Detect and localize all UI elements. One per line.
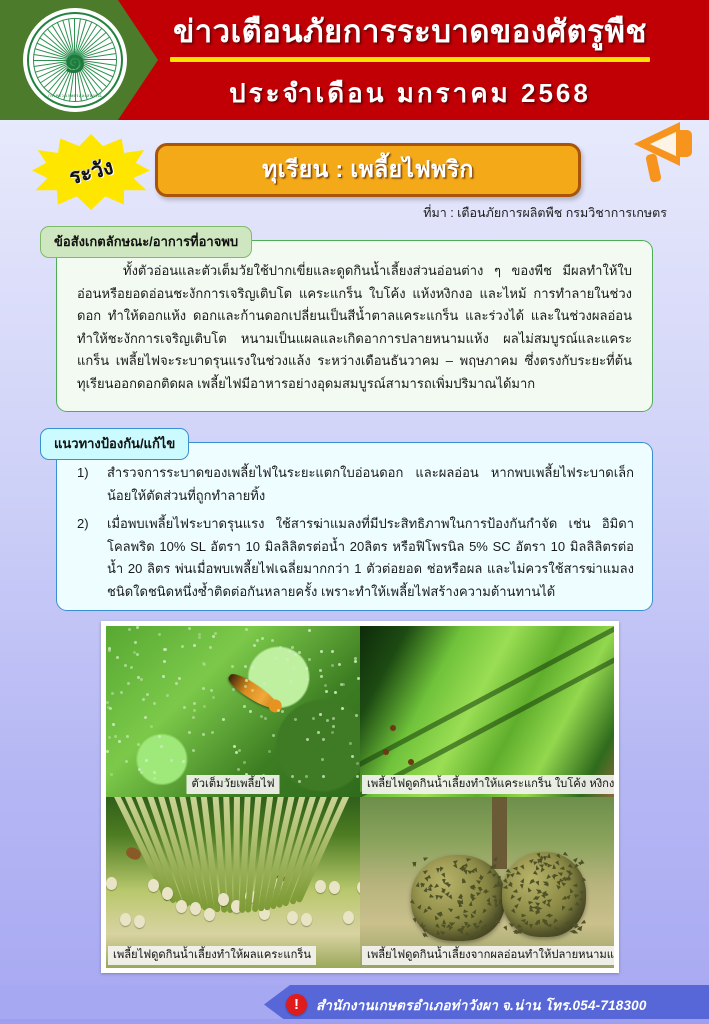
flower-bud (148, 879, 159, 892)
flower-bud (162, 887, 173, 900)
photo-caption: เพลี้ยไฟดูดกินน้ำเลี้ยงทำให้ผลแคระแกร็น (108, 946, 316, 965)
durian-fruit (502, 852, 586, 938)
leaf-damage-spot (383, 749, 389, 755)
leaf-damage-spot (390, 725, 396, 731)
flower-bud (315, 880, 326, 893)
photo-caption: ตัวเต็มวัยเพลี้ยไฟ (186, 775, 279, 794)
megaphone-icon (604, 98, 704, 198)
tree-trunk (492, 797, 507, 869)
list-item: 1) สำรวจการระบาดของเพลี้ยไฟในระยะแตกใบอ่… (71, 462, 634, 507)
ministry-seal-logo: ๑ กระทรวงเกษตรและสหกรณ์ (23, 8, 127, 112)
poster-main-title: ข่าวเตือนภัยการระบาดของศัตรูพืช (150, 6, 670, 56)
flower-bud (176, 900, 187, 913)
photo-grid-frame: ตัวเต็มวัยเพลี้ยไฟ เพลี้ยไฟดูดกินน้ำเลี้… (101, 621, 619, 973)
stunted-fruitlet-photo: เพลี้ยไฟดูดกินน้ำเลี้ยงทำให้ผลแคระแกร็น (106, 797, 360, 968)
thrips-insect-shape (226, 670, 281, 713)
logo-hexagon: ๑ กระทรวงเกษตรและสหกรณ์ (0, 0, 158, 120)
flower-bud (134, 915, 145, 928)
list-item-text: สำรวจการระบาดของเพลี้ยไฟในระยะแตกใบอ่อนด… (107, 465, 634, 503)
durian-fruit (411, 855, 505, 941)
list-item-number: 2) (77, 513, 103, 536)
exclamation-icon: ! (286, 994, 307, 1015)
poster-header: ๑ กระทรวงเกษตรและสหกรณ์ ข่าวเตือนภัยการร… (0, 0, 709, 120)
observation-body-text: ทั้งตัวอ่อนและตัวเต็มวัยใช้ปากเขี่ยและดู… (77, 260, 632, 395)
source-line: ที่มา : เตือนภัยการผลิตพืช กรมวิชาการเกษ… (423, 203, 667, 223)
pest-title-bar: ทุเรียน : เพลี้ยไฟพริก (155, 143, 581, 197)
pest-title-label: ทุเรียน : เพลี้ยไฟพริก (262, 152, 474, 188)
garuda-glyph: ๑ (53, 34, 97, 86)
observation-section-tab: ข้อสังเกตลักษณะ/อาการที่อาจพบ (40, 226, 252, 258)
prevention-section-box: 1) สำรวจการระบาดของเพลี้ยไฟในระยะแตกใบอ่… (56, 442, 653, 611)
flower-bud (329, 881, 340, 894)
header-titles: ข่าวเตือนภัยการระบาดของศัตรูพืช ประจำเดื… (150, 6, 670, 114)
footer-office-text: สำนักงานเกษตรอำเภอท่าวังผา จ.น่าน โทร.05… (316, 994, 647, 1016)
list-item-text: เมื่อพบเพลี้ยไฟระบาดรุนแรง ใช้สารฆ่าแมลง… (107, 516, 634, 599)
list-item-number: 1) (77, 462, 103, 485)
flower-bud (301, 913, 312, 926)
seal-caption: กระทรวงเกษตรและสหกรณ์ (23, 92, 127, 99)
prevention-section-tab: แนวทางป้องกัน/แก้ไข (40, 428, 189, 460)
megaphone-body (676, 130, 692, 157)
photo-grid: ตัวเต็มวัยเพลี้ยไฟ เพลี้ยไฟดูดกินน้ำเลี้… (106, 626, 614, 968)
photo-caption: เพลี้ยไฟดูดกินน้ำเลี้ยงจากผลอ่อนทำให้ปลา… (362, 946, 614, 965)
observation-section-box: ทั้งตัวอ่อนและตัวเต็มวัยใช้ปากเขี่ยและดู… (56, 240, 653, 412)
leaf-vein (360, 626, 614, 771)
warning-badge-label: ระวัง (65, 150, 117, 193)
title-underline (170, 57, 650, 62)
flower-bud (287, 911, 298, 924)
flower-bud (218, 893, 229, 906)
flower-bud (190, 902, 201, 915)
adult-thrips-photo: ตัวเต็มวัยเพลี้ยไฟ (106, 626, 360, 797)
prevention-list: 1) สำรวจการระบาดของเพลี้ยไฟในระยะแตกใบอ่… (71, 462, 634, 603)
curled-leaf-photo: เพลี้ยไฟดูดกินน้ำเลี้ยงทำให้แคระแกร็น ใบ… (360, 626, 614, 797)
warning-starburst-badge: ระวัง (32, 134, 150, 210)
footer-base-strip (0, 1019, 709, 1024)
flower-bud (204, 908, 215, 921)
flower-bud (120, 913, 131, 926)
list-item: 2) เมื่อพบเพลี้ยไฟระบาดรุนแรง ใช้สารฆ่าแ… (71, 513, 634, 603)
poster-month-title: ประจำเดือน มกราคม 2568 (150, 73, 670, 114)
photo-caption: เพลี้ยไฟดูดกินน้ำเลี้ยงทำให้แคระแกร็น ใบ… (362, 775, 614, 794)
flower-bud (343, 911, 354, 924)
flower-bud (106, 877, 117, 890)
durian-fruit-photo: เพลี้ยไฟดูดกินน้ำเลี้ยงจากผลอ่อนทำให้ปลา… (360, 797, 614, 968)
